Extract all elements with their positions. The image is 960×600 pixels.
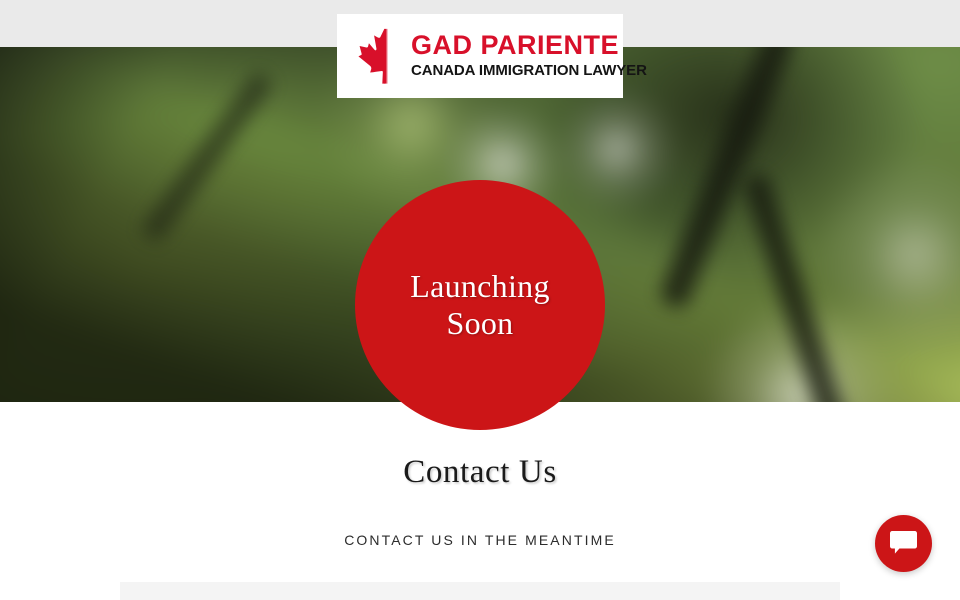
contact-subheading: CONTACT US IN THE MEANTIME [0, 532, 960, 548]
logo-subtitle: CANADA IMMIGRATION LAWYER [411, 62, 647, 80]
launching-soon-text: Launching Soon [410, 268, 550, 342]
maple-leaf-icon [351, 27, 405, 85]
landing-page: GAD PARIENTE CANADA IMMIGRATION LAWYER L… [0, 0, 960, 600]
contact-form [120, 582, 840, 600]
contact-heading: Contact Us [0, 454, 960, 491]
chat-bubble-icon [890, 531, 917, 556]
launching-soon-badge: Launching Soon [355, 180, 605, 430]
logo-wordmark: GAD PARIENTE CANADA IMMIGRATION LAWYER [411, 32, 647, 80]
contact-name-input[interactable] [120, 582, 840, 600]
logo-title: GAD PARIENTE [411, 32, 647, 60]
chat-launcher-button[interactable] [875, 515, 932, 572]
badge-line-2: Soon [446, 305, 513, 341]
badge-line-1: Launching [410, 268, 550, 304]
site-logo[interactable]: GAD PARIENTE CANADA IMMIGRATION LAWYER [337, 14, 623, 98]
